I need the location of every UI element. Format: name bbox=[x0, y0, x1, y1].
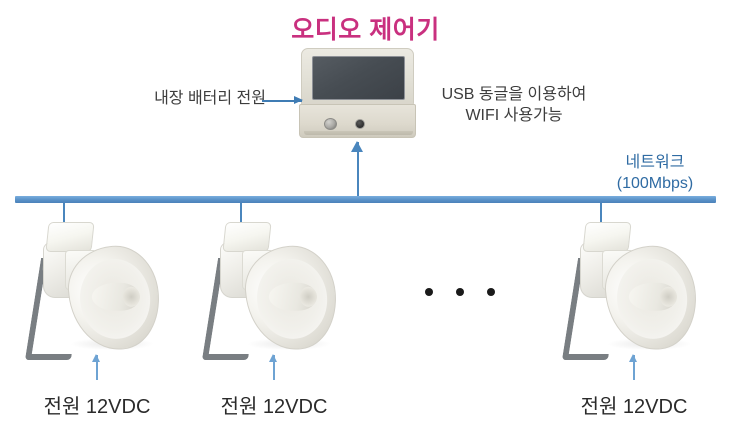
arrow-power-to-speaker-3-icon bbox=[629, 355, 638, 380]
speaker-terminal-box bbox=[582, 222, 631, 252]
ellipsis-dot bbox=[487, 288, 495, 296]
power-label-speaker-3: 전원 12VDC bbox=[549, 390, 719, 419]
controller-screen-housing bbox=[301, 48, 414, 106]
arrow-battery-to-controller-icon bbox=[262, 96, 302, 105]
usb-port-icon bbox=[355, 119, 365, 129]
horn-speaker-1 bbox=[25, 222, 160, 362]
speaker-terminal-box bbox=[222, 222, 271, 252]
annotation-battery-power: 내장 배터리 전원 bbox=[116, 88, 266, 109]
ellipsis-dot bbox=[425, 288, 433, 296]
horn-speaker-3 bbox=[562, 222, 697, 362]
arrow-power-to-speaker-1-icon bbox=[92, 355, 101, 380]
power-label-speaker-2: 전원 12VDC bbox=[189, 390, 359, 419]
diagram-canvas: 오디오 제어기 내장 배터리 전원 USB 동글을 이용하여 WIFI 사용가능… bbox=[0, 0, 731, 430]
arrow-network-to-controller-icon bbox=[351, 142, 364, 196]
controller-base bbox=[299, 104, 416, 138]
page-title: 오디오 제어기 bbox=[0, 10, 731, 46]
ellipsis-dot bbox=[456, 288, 464, 296]
speaker-terminal-box bbox=[45, 222, 94, 252]
horn-speaker-2 bbox=[202, 222, 337, 362]
arrow-power-to-speaker-2-icon bbox=[269, 355, 278, 380]
controller-display-icon bbox=[312, 56, 405, 100]
annotation-network-speed: 네트워크 (100Mbps) bbox=[585, 152, 725, 194]
power-label-speaker-1: 전원 12VDC bbox=[12, 390, 182, 419]
ellipsis-more-speakers bbox=[425, 288, 495, 296]
network-backbone-bar bbox=[15, 196, 716, 203]
rotary-knob-icon bbox=[324, 118, 337, 130]
annotation-usb-wifi: USB 동글을 이용하여 WIFI 사용가능 bbox=[424, 84, 604, 126]
audio-controller-device bbox=[299, 48, 416, 140]
